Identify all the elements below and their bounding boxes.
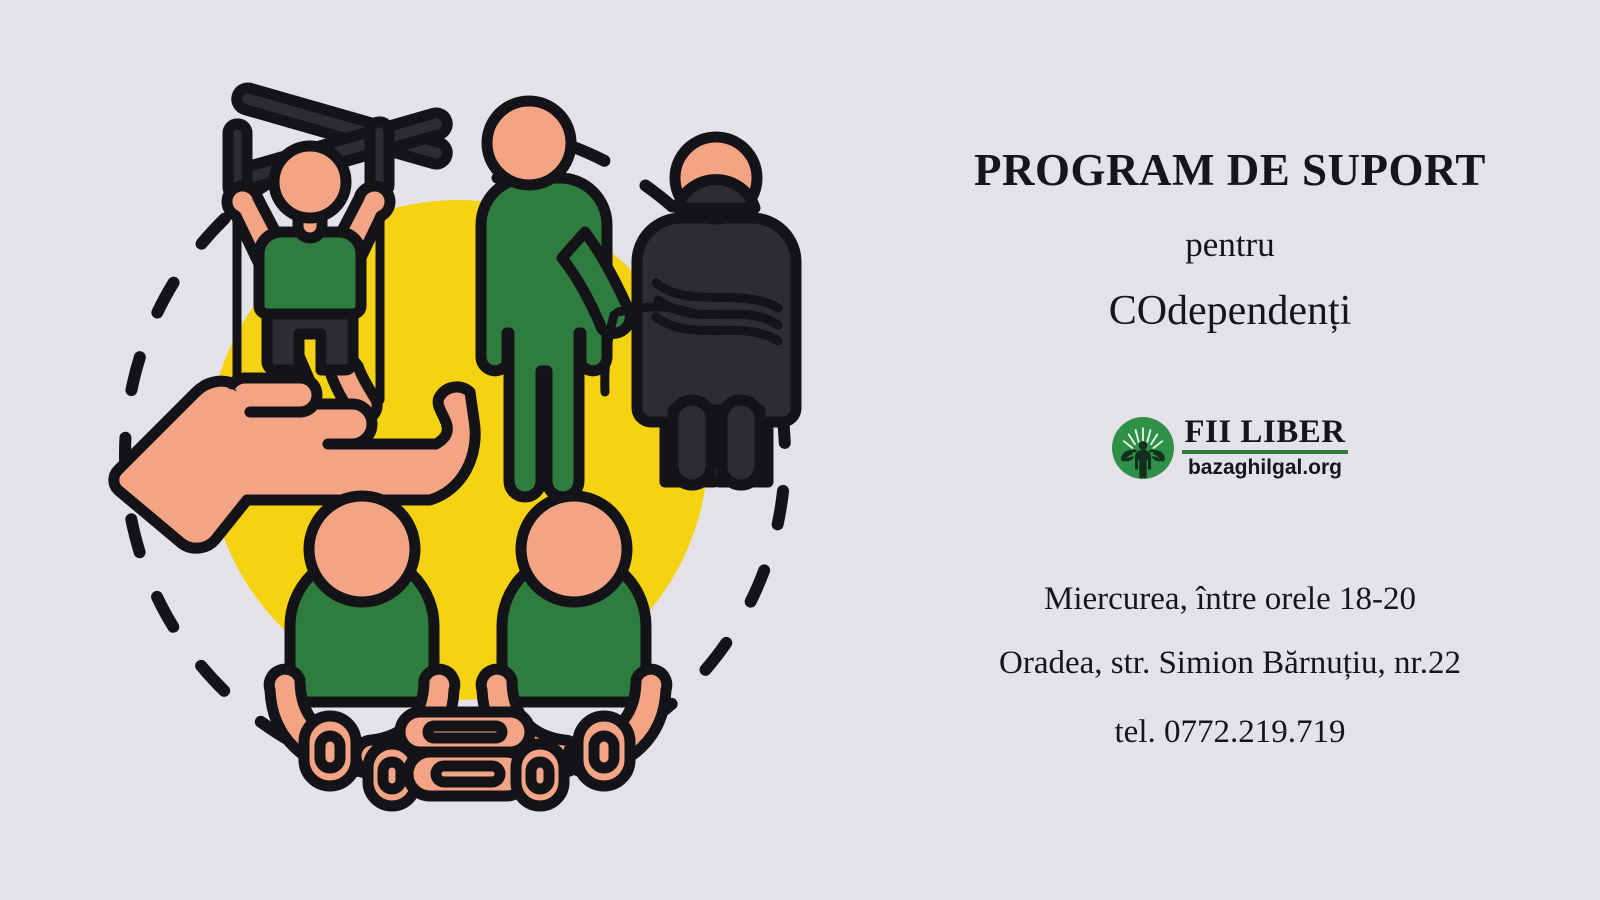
subtitle-codependenti: COdependenți — [860, 287, 1600, 335]
logo-wordmark: FII LIBER bazaghilgal.org — [1182, 415, 1347, 480]
poster-canvas: .ln { fill:none; stroke:#141418; stroke-… — [0, 0, 1600, 900]
logo-block: FII LIBER bazaghilgal.org — [860, 415, 1600, 480]
logo-url: bazaghilgal.org — [1182, 454, 1347, 480]
codependency-illustration: .ln { fill:none; stroke:#141418; stroke-… — [0, 0, 860, 900]
chain — [304, 712, 630, 806]
logo: FII LIBER bazaghilgal.org — [1112, 415, 1347, 480]
contact-schedule: Miercurea, între orele 18-20 — [860, 581, 1600, 618]
subtitle-pentru: pentru — [860, 225, 1600, 265]
logo-name: FII LIBER — [1182, 417, 1347, 454]
page-title: PROGRAM DE SUPORT — [860, 146, 1600, 196]
contact-address: Oradea, str. Simion Bărnuțiu, nr.22 — [860, 645, 1600, 682]
fii-liber-logo-mark-icon — [1112, 417, 1174, 479]
contact-phone: tel. 0772.219.719 — [860, 714, 1600, 751]
text-column: PROGRAM DE SUPORT pentru COdependenți — [860, 0, 1600, 900]
